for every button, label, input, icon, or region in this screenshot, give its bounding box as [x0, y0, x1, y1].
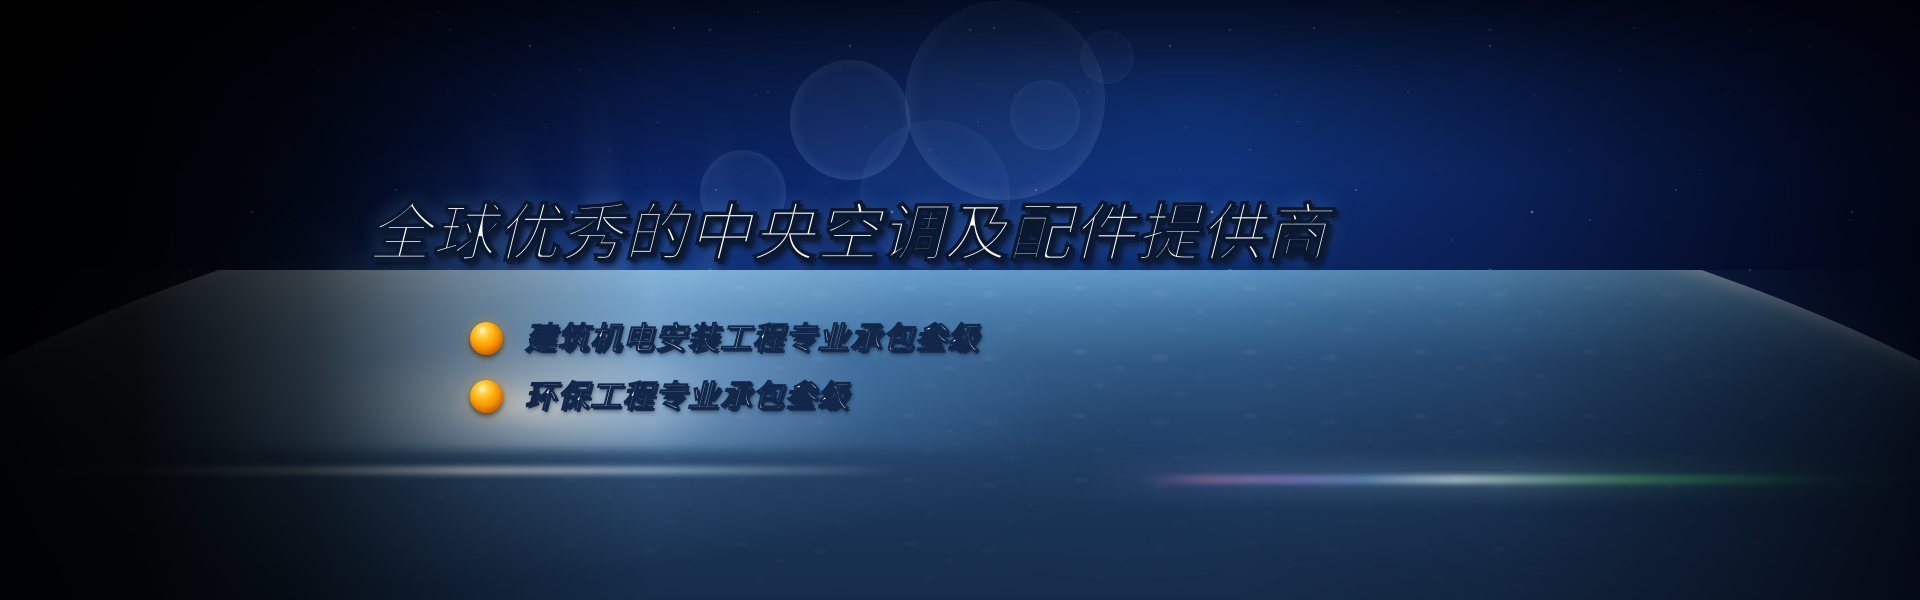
hero-banner: 全球优秀的中央空调及配件提供商 建筑机电安装工程专业承包叁级 环保工程专业承包叁…: [0, 0, 1920, 600]
orange-sphere-bullet-icon: [470, 380, 503, 413]
list-item: 建筑机电安装工程专业承包叁级: [470, 312, 980, 364]
banner-headline: 全球优秀的中央空调及配件提供商: [368, 203, 1328, 266]
list-item-label: 建筑机电安装工程专业承包叁级: [525, 323, 980, 354]
banner-content: 全球优秀的中央空调及配件提供商 建筑机电安装工程专业承包叁级 环保工程专业承包叁…: [0, 0, 1920, 600]
orange-sphere-bullet-icon: [470, 322, 503, 355]
banner-qualification-list: 建筑机电安装工程专业承包叁级 环保工程专业承包叁级: [470, 312, 980, 428]
list-item-label: 环保工程专业承包叁级: [525, 381, 850, 412]
list-item: 环保工程专业承包叁级: [470, 370, 980, 422]
